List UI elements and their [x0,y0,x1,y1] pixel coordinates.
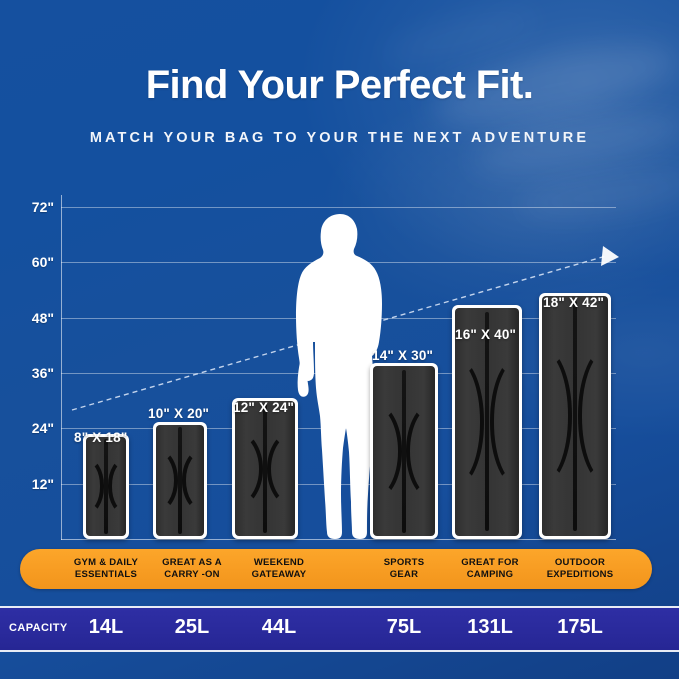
category-line-1: WEEKEND [254,557,304,568]
category-label[interactable]: GREAT AS ACARRY -ON [162,557,222,580]
category-line-2: GATEAWAY [252,569,307,580]
bag-bar[interactable] [83,434,129,539]
bag-arc-left-icon [235,430,263,508]
bag-arc-left-icon [373,402,402,500]
category-line-2: CARRY -ON [164,569,220,580]
capacity-value: 44L [262,616,296,639]
category-line-1: SPORTS [384,557,425,568]
bag-zipper-icon [178,427,182,534]
category-label[interactable]: OUTDOOREXPEDITIONS [547,557,614,580]
bag-outline [83,434,129,539]
capacity-value: 175L [557,616,603,639]
bag-body [156,425,204,536]
bag-arc-left-icon [542,346,572,485]
capacity-bar: CAPACITY 14L25L44L75L131L175L [0,606,679,652]
y-axis-tick-label: 72" [8,199,54,215]
bag-size-label: 18" X 42" [543,295,604,310]
y-axis-tick-label: 60" [8,254,54,270]
bag-zipper-icon [402,370,406,533]
bag-arc-left-icon [156,448,178,512]
bag-bar[interactable] [370,363,438,539]
bag-body [455,308,519,536]
category-line-1: GREAT FOR [461,557,519,568]
bag-outline [232,398,298,539]
bag-arc-right-icon [490,356,519,488]
category-line-2: GEAR [390,569,418,580]
bag-size-label: 16" X 40" [455,327,516,342]
bag-bar[interactable] [153,422,207,539]
bag-zipper-icon [573,301,577,531]
y-axis-tick-label: 36" [8,365,54,381]
category-label[interactable]: WEEKENDGATEAWAY [252,557,307,580]
category-line-2: ESSENTIALS [75,569,137,580]
y-axis-tick-label: 48" [8,310,54,326]
capacity-value: 131L [467,616,513,639]
category-line-1: GYM & DAILY [74,557,138,568]
bag-arc-left-icon [86,457,104,515]
bag-outline [153,422,207,539]
bag-zipper-icon [263,404,267,533]
category-label[interactable]: GREAT FORCAMPING [461,557,519,580]
bag-arc-left-icon [455,356,484,488]
gridline [61,207,616,208]
bag-size-label: 12" X 24" [233,400,294,415]
bag-size-label: 10" X 20" [148,406,209,421]
y-axis-tick-label: 12" [8,476,54,492]
capacity-label: CAPACITY [9,622,68,634]
bag-body [373,366,435,536]
capacity-value: 75L [387,616,421,639]
category-label[interactable]: SPORTSGEAR [384,557,425,580]
bag-zipper-icon [104,439,108,534]
bag-bar[interactable] [232,398,298,539]
bag-body [235,401,295,536]
bag-arc-right-icon [406,402,435,500]
bag-bar[interactable] [539,293,611,539]
bag-arc-right-icon [578,346,608,485]
bag-zipper-icon [485,312,489,531]
bag-arc-right-icon [267,430,295,508]
bag-body [542,296,608,536]
category-line-2: CAMPING [467,569,514,580]
category-bar: GYM & DAILYESSENTIALSGREAT AS ACARRY -ON… [20,549,652,589]
y-axis-line [61,195,62,540]
category-line-1: GREAT AS A [162,557,222,568]
bag-outline [539,293,611,539]
category-label[interactable]: GYM & DAILYESSENTIALS [74,557,138,580]
capacity-value: 14L [89,616,123,639]
y-axis-tick-label: 24" [8,420,54,436]
category-line-2: EXPEDITIONS [547,569,614,580]
bag-arc-right-icon [182,448,204,512]
infographic-canvas: Find Your Perfect Fit. MATCH YOUR BAG TO… [0,0,679,679]
bag-size-label: 8" X 18" [74,430,127,445]
bag-size-label: 14" X 30" [372,348,433,363]
bag-outline [370,363,438,539]
bag-arc-right-icon [108,457,126,515]
category-line-1: OUTDOOR [555,557,605,568]
capacity-value: 25L [175,616,209,639]
bag-body [86,437,126,536]
